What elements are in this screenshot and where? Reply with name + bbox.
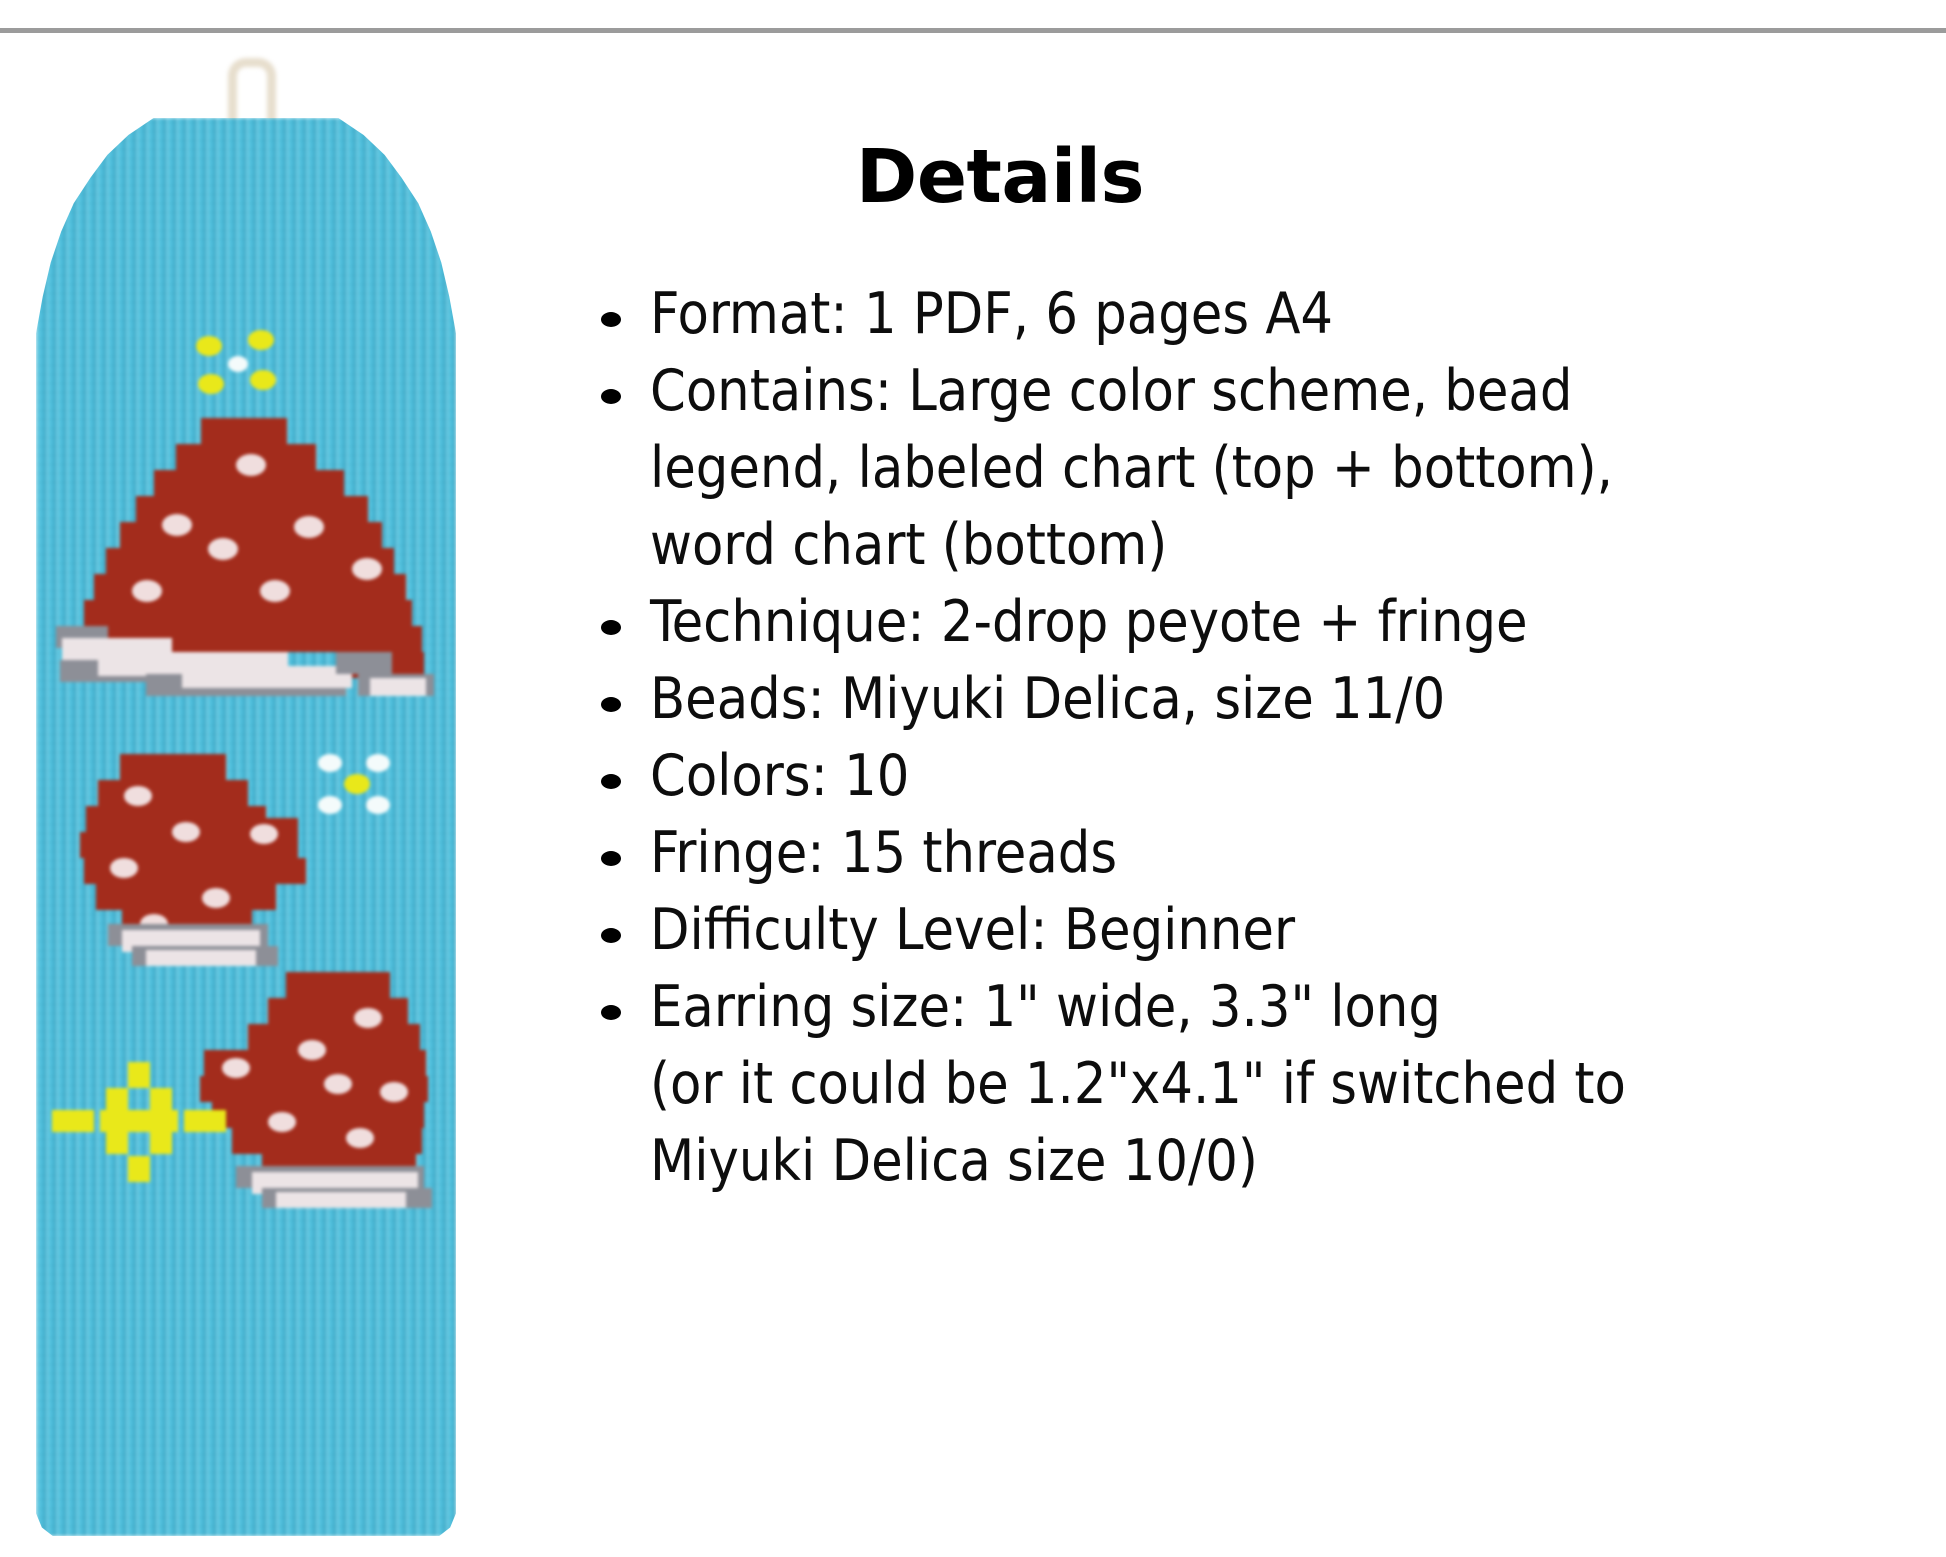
details-item-technique: Technique: 2-drop peyote + fringe [588,584,1908,661]
details-item-difficulty: Difficulty Level: Beginner [588,892,1908,969]
details-item-fringe: Fringe: 15 threads [588,815,1908,892]
product-image-panel [0,36,470,1557]
top-divider-rule [0,28,1946,33]
details-item-beads: Beads: Miyuki Delica, size 11/0 [588,661,1908,738]
beaded-earring-panel [36,118,456,1536]
details-panel: Details Format: 1 PDF, 6 pages A4 Contai… [470,36,1946,1557]
details-bullet-list: Format: 1 PDF, 6 pages A4 Contains: Larg… [588,276,1908,1200]
details-title: Details [470,140,1530,214]
details-item-earring-size: Earring size: 1" wide, 3.3" long (or it … [588,969,1908,1200]
details-item-colors: Colors: 10 [588,738,1908,815]
details-item-format: Format: 1 PDF, 6 pages A4 [588,276,1908,353]
details-item-contains: Contains: Large color scheme, bead legen… [588,353,1908,584]
